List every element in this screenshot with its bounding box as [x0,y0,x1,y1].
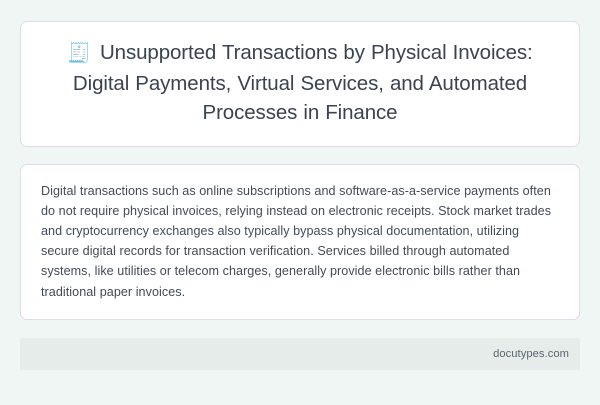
receipt-icon: 🧾 [67,43,91,64]
page-root: 🧾Unsupported Transactions by Physical In… [0,0,600,405]
page-title: 🧾Unsupported Transactions by Physical In… [45,38,555,128]
page-title-text: Unsupported Transactions by Physical Inv… [73,41,533,124]
body-card: Digital transactions such as online subs… [20,164,580,320]
site-attribution: docutypes.com [493,347,569,361]
title-card: 🧾Unsupported Transactions by Physical In… [20,21,580,147]
footer-bar: docutypes.com [20,338,580,370]
body-paragraph: Digital transactions such as online subs… [41,181,559,302]
